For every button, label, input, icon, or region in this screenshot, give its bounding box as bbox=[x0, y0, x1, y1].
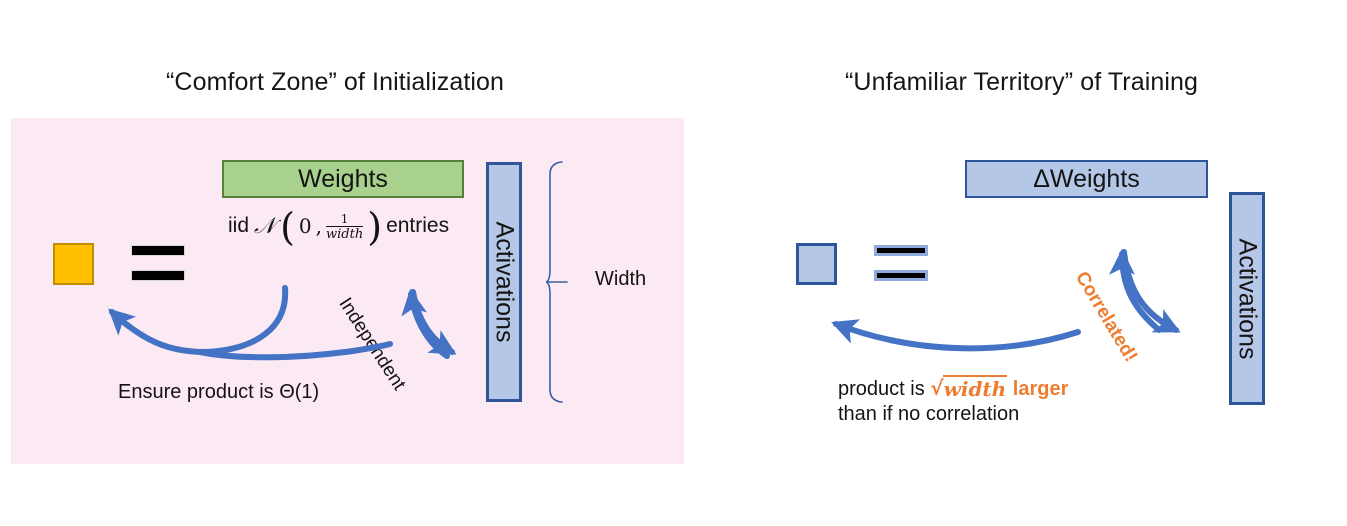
variance-denominator: width bbox=[326, 226, 363, 241]
sqrt-radicand: width bbox=[944, 377, 1007, 401]
weights-box-label: Weights bbox=[224, 162, 462, 196]
left-equals-icon bbox=[131, 245, 185, 281]
formula-comma: , bbox=[316, 214, 322, 238]
right-activations-label: Activations bbox=[1233, 238, 1262, 359]
equals-bar-top bbox=[131, 245, 185, 256]
sqrt-symbol: √ bbox=[930, 376, 943, 400]
product-caption-emphasis: larger bbox=[1013, 378, 1069, 400]
right-activations-bar: Activations bbox=[1229, 192, 1265, 405]
correlated-annotation-label: Correlated! bbox=[1070, 268, 1141, 366]
equals-bar-bottom bbox=[874, 270, 928, 281]
delta-weights-box-label: ΔWeights bbox=[967, 162, 1206, 196]
equals-bar-top bbox=[874, 245, 928, 256]
iid-suffix: entries bbox=[386, 214, 449, 238]
weights-box: Weights bbox=[222, 160, 464, 198]
product-caption-lead: product is bbox=[838, 378, 925, 400]
right-panel-title: “Unfamiliar Territory” of Training bbox=[845, 68, 1198, 97]
product-width-caption: product is √width larger than if no corr… bbox=[838, 374, 1068, 427]
left-activations-bar: Activations bbox=[486, 162, 522, 402]
normal-distribution-symbol: 𝒩 bbox=[253, 214, 276, 239]
ensure-product-caption: Ensure product is Θ(1) bbox=[118, 381, 319, 404]
curved-arrow-icon-right-long-flat bbox=[836, 324, 1078, 348]
width-brace-label: Width bbox=[595, 268, 646, 291]
left-activations-label: Activations bbox=[490, 222, 519, 343]
iid-prefix: iid bbox=[228, 214, 249, 238]
left-input-square bbox=[53, 243, 94, 285]
brace-icon bbox=[546, 160, 568, 404]
left-panel-title: “Comfort Zone” of Initialization bbox=[166, 68, 504, 97]
formula-mean: 0 bbox=[299, 214, 312, 238]
variance-numerator: 1 bbox=[341, 213, 349, 226]
right-input-square bbox=[796, 243, 837, 285]
equals-bar-bottom bbox=[131, 270, 185, 281]
product-caption-line2: than if no correlation bbox=[838, 402, 1068, 427]
iid-distribution-formula: iid 𝒩 ( 0 , 1 width ) entries bbox=[228, 212, 449, 240]
delta-weights-box: ΔWeights bbox=[965, 160, 1208, 198]
curved-arrow-icon-right-down bbox=[1124, 252, 1176, 330]
slide-canvas: “Comfort Zone” of Initialization “Unfami… bbox=[0, 0, 1347, 526]
variance-fraction: 1 width bbox=[326, 213, 363, 241]
curved-arrow-icon-right-up bbox=[1122, 254, 1159, 330]
right-equals-icon bbox=[874, 245, 928, 281]
